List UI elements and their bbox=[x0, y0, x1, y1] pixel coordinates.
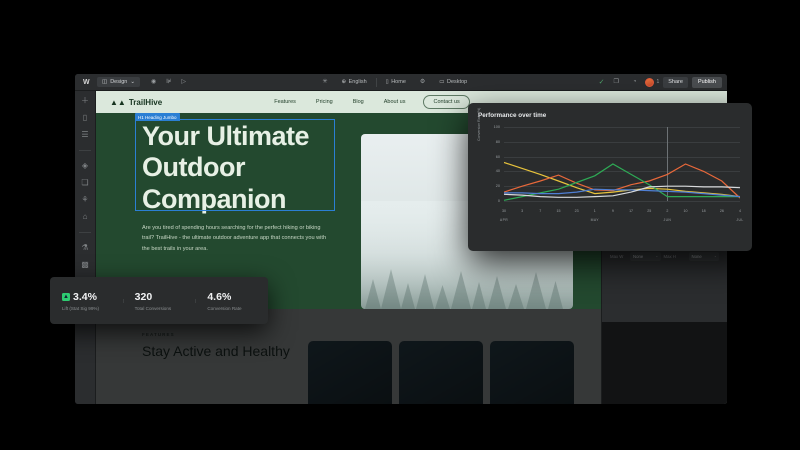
conversion-rate-label: Conversion Rate bbox=[207, 306, 268, 311]
avatar-group[interactable]: 1 bbox=[645, 78, 659, 87]
x-tick-label: 26 bbox=[720, 209, 724, 213]
mountain-logo-icon: ▲▲ bbox=[110, 98, 126, 107]
max-width-field[interactable]: None - bbox=[630, 252, 661, 261]
y-tick-label: 20 bbox=[487, 184, 500, 188]
x-tick-label: 17 bbox=[629, 209, 633, 213]
language-label: English bbox=[349, 79, 367, 85]
pages-icon[interactable]: ▯ bbox=[83, 114, 87, 122]
stat-value-wrap: 320 bbox=[135, 291, 196, 303]
line-chart[interactable]: Conversion Rate (%) 020406080100 3037152… bbox=[478, 123, 742, 228]
publish-button[interactable]: Publish bbox=[692, 77, 722, 88]
x-tick-label: 23 bbox=[575, 209, 579, 213]
max-height-value: None bbox=[692, 254, 702, 259]
y-tick-label: 0 bbox=[487, 199, 500, 203]
series-variant-c bbox=[504, 164, 740, 200]
features-heading[interactable]: Stay Active and Healthy bbox=[142, 342, 302, 361]
info-icon[interactable]: ◉ bbox=[151, 79, 156, 85]
audit-icon[interactable]: ⚗ bbox=[81, 244, 88, 252]
feature-card-2[interactable] bbox=[399, 341, 483, 404]
month-label: APR bbox=[500, 218, 508, 222]
crosshair-icon[interactable]: ✳ bbox=[322, 79, 327, 85]
nav-link-about[interactable]: About us bbox=[384, 99, 406, 105]
y-tick-label: 60 bbox=[487, 155, 500, 159]
x-tick-label: 18 bbox=[702, 209, 706, 213]
conversion-rate-value: 4.6% bbox=[207, 291, 231, 303]
total-conversions-value: 320 bbox=[135, 291, 153, 303]
chart-icon[interactable]: ⊯ bbox=[166, 79, 171, 85]
y-axis-label: Conversion Rate (%) bbox=[477, 108, 481, 141]
nav-link-blog[interactable]: Blog bbox=[353, 99, 364, 105]
lift-value: 3.4% bbox=[73, 291, 97, 303]
ecommerce-icon[interactable]: ⌂ bbox=[83, 213, 88, 221]
apps-icon[interactable]: ▩ bbox=[81, 261, 89, 269]
y-tick-label: 40 bbox=[487, 169, 500, 173]
max-width-unit: - bbox=[656, 254, 657, 259]
x-tick-label: 30 bbox=[502, 209, 506, 213]
toolbar-divider bbox=[376, 78, 377, 87]
month-label: JUN bbox=[663, 218, 671, 222]
brand-name: TrailHive bbox=[129, 98, 162, 107]
chart-title: Performance over time bbox=[478, 112, 742, 119]
x-tick-label: 15 bbox=[556, 209, 560, 213]
x-tick-label: 9 bbox=[612, 209, 614, 213]
features-eyebrow: FEATURES bbox=[142, 332, 175, 337]
month-label: JUL bbox=[736, 218, 743, 222]
screenshot-root: W ◫ Design ⌄ ◉ ⊯ ▷ ✳ ⊕ English ▯ Home bbox=[0, 0, 800, 450]
copy-icon[interactable]: ❐ bbox=[613, 79, 618, 85]
breakpoint-label: Desktop bbox=[447, 79, 467, 85]
stat-total-conversions: 320 Total Conversions bbox=[123, 291, 196, 311]
rail-divider bbox=[79, 150, 91, 151]
y-tick-label: 100 bbox=[487, 125, 500, 129]
feature-card-3[interactable] bbox=[490, 341, 574, 404]
comment-icon[interactable]: ◔ bbox=[633, 79, 637, 85]
panel-dim-overlay bbox=[602, 322, 727, 404]
avatar-count: 1 bbox=[656, 79, 659, 85]
stats-card: ▲ 3.4% Lift (Stat Sig 99%) 320 Total Con… bbox=[50, 277, 268, 324]
page-selector[interactable]: ▯ Home bbox=[381, 79, 411, 85]
x-tick-label: 7 bbox=[539, 209, 541, 213]
max-height-field[interactable]: None - bbox=[689, 252, 720, 261]
play-icon[interactable]: ▷ bbox=[181, 79, 186, 85]
design-mode-label: Design bbox=[110, 79, 127, 85]
max-height-unit: - bbox=[715, 254, 716, 259]
webflow-logo-icon[interactable]: W bbox=[75, 79, 97, 86]
stat-lift: ▲ 3.4% Lift (Stat Sig 99%) bbox=[50, 291, 123, 311]
designer-left-rail: ＋ ▯ ☰ ◈ ❏ ⚘ ⌂ ⚗ ▩ ∿ bbox=[75, 91, 96, 404]
selection-label: H1 Heading Jumbo bbox=[135, 113, 180, 121]
saved-check-icon: ✓ bbox=[599, 78, 605, 86]
design-icon: ◫ bbox=[102, 79, 107, 85]
site-brand[interactable]: ▲▲ TrailHive bbox=[110, 98, 162, 107]
x-tick-label: 4 bbox=[739, 209, 741, 213]
x-tick-label: 25 bbox=[647, 209, 651, 213]
stat-value-wrap: 4.6% bbox=[207, 291, 268, 303]
rail-divider-2 bbox=[79, 232, 91, 233]
max-height-label: Max H bbox=[664, 254, 686, 259]
toolbar-right-group: ✓ ❐ ◔ 1 Share Publish bbox=[599, 77, 727, 88]
max-width-value: None bbox=[633, 254, 643, 259]
settings-icon[interactable]: ⚙ bbox=[420, 79, 425, 85]
performance-chart-card: Performance over time Conversion Rate (%… bbox=[468, 103, 752, 251]
language-selector[interactable]: ⊕ English bbox=[337, 79, 372, 85]
cms-icon[interactable]: ⚘ bbox=[81, 196, 88, 204]
nav-cta-button[interactable]: Contact us bbox=[423, 95, 469, 109]
stat-conversion-rate: 4.6% Conversion Rate bbox=[195, 291, 268, 311]
x-tick-label: 1 bbox=[594, 209, 596, 213]
desktop-icon: ▭ bbox=[439, 79, 444, 85]
stat-value-wrap: ▲ 3.4% bbox=[62, 291, 123, 303]
add-icon[interactable]: ＋ bbox=[81, 97, 89, 105]
size-row: Max W None - Max H None - bbox=[610, 252, 719, 261]
x-tick-label: 10 bbox=[684, 209, 688, 213]
selection-outline bbox=[135, 119, 335, 211]
chart-series-svg bbox=[504, 127, 740, 201]
avatar[interactable] bbox=[645, 78, 654, 87]
trend-up-icon: ▲ bbox=[62, 293, 70, 301]
feature-card-1[interactable] bbox=[308, 341, 392, 404]
page-label: Home bbox=[391, 79, 406, 85]
series-variant-a bbox=[504, 163, 740, 197]
x-tick-label: 3 bbox=[521, 209, 523, 213]
chevron-down-icon: ⌄ bbox=[130, 79, 135, 85]
layers-icon[interactable]: ☰ bbox=[81, 131, 88, 139]
y-tick-label: 80 bbox=[487, 140, 500, 144]
max-width-label: Max W bbox=[610, 254, 627, 259]
globe-icon: ⊕ bbox=[342, 79, 347, 85]
toolbar-center-group: ✳ ⊕ English ▯ Home ⚙ ▭ Desktop bbox=[191, 78, 599, 87]
nav-link-features[interactable]: Features bbox=[274, 99, 296, 105]
x-tick-label: 2 bbox=[666, 209, 668, 213]
month-label: MAY bbox=[591, 218, 599, 222]
site-nav-links: Features Pricing Blog About us bbox=[274, 99, 405, 105]
breakpoint-selector[interactable]: ▭ Desktop bbox=[434, 79, 472, 85]
gridline bbox=[504, 201, 740, 202]
lift-label: Lift (Stat Sig 99%) bbox=[62, 306, 123, 311]
page-icon: ▯ bbox=[386, 79, 389, 85]
design-mode-selector[interactable]: ◫ Design ⌄ bbox=[97, 77, 140, 87]
hero-paragraph[interactable]: Are you tired of spending hours searchin… bbox=[142, 223, 332, 254]
designer-toolbar: W ◫ Design ⌄ ◉ ⊯ ▷ ✳ ⊕ English ▯ Home bbox=[75, 74, 727, 91]
nav-link-pricing[interactable]: Pricing bbox=[316, 99, 333, 105]
components-icon[interactable]: ◈ bbox=[82, 162, 88, 170]
share-button[interactable]: Share bbox=[663, 77, 688, 88]
assets-icon[interactable]: ❏ bbox=[81, 179, 88, 187]
total-conversions-label: Total Conversions bbox=[135, 306, 196, 311]
